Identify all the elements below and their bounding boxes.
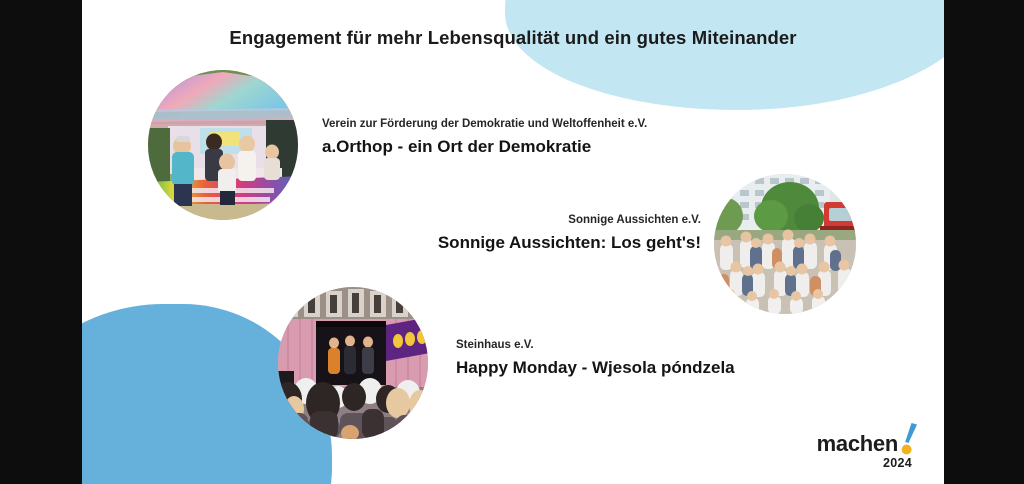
logo-row: machen <box>817 422 918 455</box>
project-photo-sonnige-aussichten <box>714 174 856 314</box>
slide-viewer: Engagement für mehr Lebensqualität und e… <box>0 0 1024 484</box>
org-name-sonnige-aussichten: Sonnige Aussichten e.V. <box>356 213 701 229</box>
logo-year: 2024 <box>817 456 912 470</box>
project-text-orthop: Verein zur Förderung der Demokratie und … <box>322 117 647 158</box>
decorative-blob-top-right <box>500 0 944 118</box>
org-name-happy-monday: Steinhaus e.V. <box>456 338 735 354</box>
logo-machen-2024: machen 2024 <box>817 422 918 470</box>
project-name-orthop: a.Orthop - ein Ort der Demokratie <box>322 135 647 159</box>
project-name-sonnige-aussichten: Sonnige Aussichten: Los geht's! <box>356 231 701 255</box>
org-name-orthop: Verein zur Förderung der Demokratie und … <box>322 117 647 133</box>
page-title: Engagement für mehr Lebensqualität und e… <box>82 27 944 49</box>
project-photo-happy-monday <box>278 287 428 439</box>
letterbox-left <box>0 0 82 484</box>
letterbox-right <box>944 0 1024 484</box>
project-photo-orthop <box>148 70 298 220</box>
logo-wordmark: machen <box>817 433 898 455</box>
project-text-happy-monday: Steinhaus e.V. Happy Monday - Wjesola pó… <box>456 338 735 379</box>
slide-canvas: Engagement für mehr Lebensqualität und e… <box>82 0 944 484</box>
project-name-happy-monday: Happy Monday - Wjesola póndzela <box>456 356 735 380</box>
exclamation-mark-icon <box>900 422 918 455</box>
project-text-sonnige-aussichten: Sonnige Aussichten e.V. Sonnige Aussicht… <box>356 213 701 254</box>
